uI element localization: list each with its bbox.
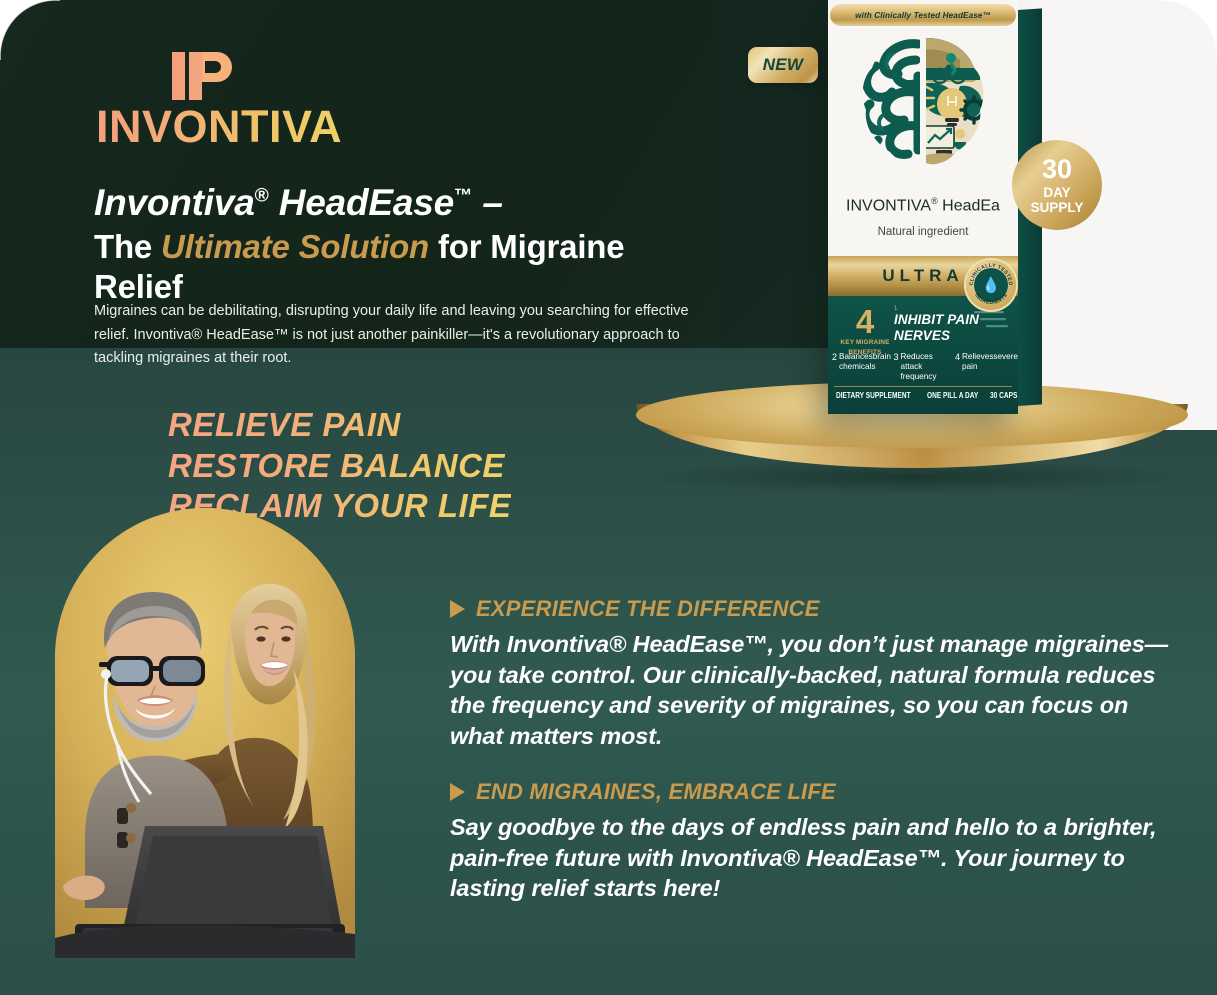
copy-block-heading: END MIGRAINES, EMBRACE LIFE bbox=[450, 779, 1170, 805]
monogram-stroke-p-stem bbox=[189, 52, 202, 100]
product-box-subtitle: Natural ingredient bbox=[828, 226, 1018, 238]
new-badge-label: NEW bbox=[763, 55, 804, 75]
product-box-tier-label: ULTRA bbox=[882, 266, 963, 286]
couple-at-laptop-photo bbox=[55, 508, 355, 958]
headline-line-1: Invontiva® HeadEase™ – bbox=[94, 182, 714, 223]
new-badge: NEW bbox=[748, 47, 818, 83]
corner-mask-top-left bbox=[0, 0, 60, 60]
benefit-count-number: 4 bbox=[836, 306, 894, 337]
footer-dosage: ONE PILL A DAY bbox=[927, 391, 978, 400]
product-box-footer: DIETARY SUPPLEMENT ONE PILL A DAY 30 CAP… bbox=[832, 391, 1018, 400]
product-box-brand-line: INVONTIVA® HeadEa bbox=[828, 196, 1018, 215]
supply-badge-line1: DAY bbox=[1043, 186, 1070, 200]
clinically-tested-seal: CLINICALLY TESTED INGREDIENTS 💧 bbox=[964, 258, 1018, 312]
product-box-front: with Clinically Tested HeadEase™ bbox=[828, 0, 1018, 414]
brand-wordmark: INVONTIVA bbox=[96, 104, 342, 149]
copy-block: EXPERIENCE THE DIFFERENCE With Invontiva… bbox=[450, 596, 1170, 751]
footer-dietary-supplement: DIETARY SUPPLEMENT bbox=[836, 391, 911, 400]
headline-line-2: The Ultimate Solution for Migraine Relie… bbox=[94, 227, 714, 306]
supply-badge-number: 30 bbox=[1042, 156, 1072, 183]
clinically-tested-banner-label: with Clinically Tested HeadEase™ bbox=[855, 11, 991, 20]
copy-block-heading: EXPERIENCE THE DIFFERENCE bbox=[450, 596, 1170, 622]
hero-headline: Invontiva® HeadEase™ – The Ultimate Solu… bbox=[94, 182, 714, 307]
seal-bottom-label: INGREDIENTS bbox=[973, 292, 1009, 306]
seal-ring-text: CLINICALLY TESTED INGREDIENTS bbox=[966, 260, 1016, 310]
headline-emphasis: Ultimate Solution bbox=[161, 228, 429, 265]
benefit-item: 2 Balancesbrain chemicals bbox=[832, 352, 892, 382]
benefit-item-number: 3 bbox=[894, 352, 899, 382]
monogram-counter bbox=[205, 61, 221, 73]
slogan-line-2: RESTORE BALANCE bbox=[168, 446, 511, 487]
slogan-line-1: RELIEVE PAIN bbox=[168, 405, 511, 446]
brain-illustration bbox=[852, 30, 994, 172]
benefit-item-number: 2 bbox=[832, 352, 837, 382]
product-box-product: HeadEa bbox=[938, 197, 1000, 214]
copy-block-body: With Invontiva® HeadEase™, you don’t jus… bbox=[450, 629, 1170, 751]
trademark-mark: ™ bbox=[454, 185, 472, 206]
headline-pre: The bbox=[94, 228, 161, 265]
benefit-primary-text: INHIBIT PAIN NERVES bbox=[894, 312, 1012, 343]
benefit-item-text: Relievessevere pain bbox=[962, 352, 1018, 382]
monogram-stroke-i bbox=[172, 52, 185, 100]
supply-badge-line2: SUPPLY bbox=[1031, 201, 1084, 215]
product-box-divider bbox=[834, 386, 1012, 387]
benefits-copy: EXPERIENCE THE DIFFERENCE With Invontiva… bbox=[450, 596, 1170, 932]
triangle-bullet-icon bbox=[450, 783, 465, 801]
headline-dash: – bbox=[472, 182, 502, 223]
seal-top-label: CLINICALLY TESTED bbox=[969, 263, 1013, 286]
benefit-item-number: 4 bbox=[955, 352, 960, 382]
headline-brand: Invontiva bbox=[94, 182, 255, 223]
product-box[interactable]: with Clinically Tested HeadEase™ bbox=[828, 0, 1018, 414]
benefit-row: 2 Balancesbrain chemicals 3 Reduces atta… bbox=[832, 352, 1018, 382]
benefit-count-label-line1: KEY MIGRAINE bbox=[836, 339, 894, 347]
corner-mask-top-right bbox=[1157, 0, 1217, 60]
triangle-bullet-icon bbox=[450, 600, 465, 618]
supply-badge: 30 DAY SUPPLY bbox=[1012, 140, 1102, 230]
benefit-item-text: Balancesbrain chemicals bbox=[839, 352, 891, 382]
ip-monogram-icon bbox=[172, 46, 240, 102]
product-box-registered: ® bbox=[931, 196, 938, 206]
benefit-item: 4 Relievessevere pain bbox=[955, 352, 1018, 382]
copy-block-heading-text: END MIGRAINES, EMBRACE LIFE bbox=[476, 779, 836, 805]
couple-photo-arch bbox=[55, 508, 355, 958]
headline-product: HeadEase bbox=[269, 182, 454, 223]
copy-block-body: Say goodbye to the days of endless pain … bbox=[450, 812, 1170, 904]
footer-count: 30 CAPS bbox=[990, 391, 1017, 400]
benefit-item-text: Reduces attack frequency bbox=[901, 352, 953, 382]
benefit-item: 3 Reduces attack frequency bbox=[894, 352, 954, 382]
registered-mark: ® bbox=[255, 186, 269, 207]
product-box-brand: INVONTIVA bbox=[846, 197, 931, 214]
brand-logo[interactable]: INVONTIVA bbox=[96, 46, 342, 149]
marketing-page: INVONTIVA Invontiva® HeadEase™ – The Ult… bbox=[0, 0, 1217, 995]
copy-block: END MIGRAINES, EMBRACE LIFE Say goodbye … bbox=[450, 779, 1170, 904]
benefit-count-block: 4 KEY MIGRAINE BENEFITS bbox=[836, 306, 894, 357]
clinically-tested-banner: with Clinically Tested HeadEase™ bbox=[830, 4, 1016, 26]
hero-lead-paragraph: Migraines can be debilitating, disruptin… bbox=[94, 300, 694, 371]
copy-block-heading-text: EXPERIENCE THE DIFFERENCE bbox=[476, 596, 820, 622]
